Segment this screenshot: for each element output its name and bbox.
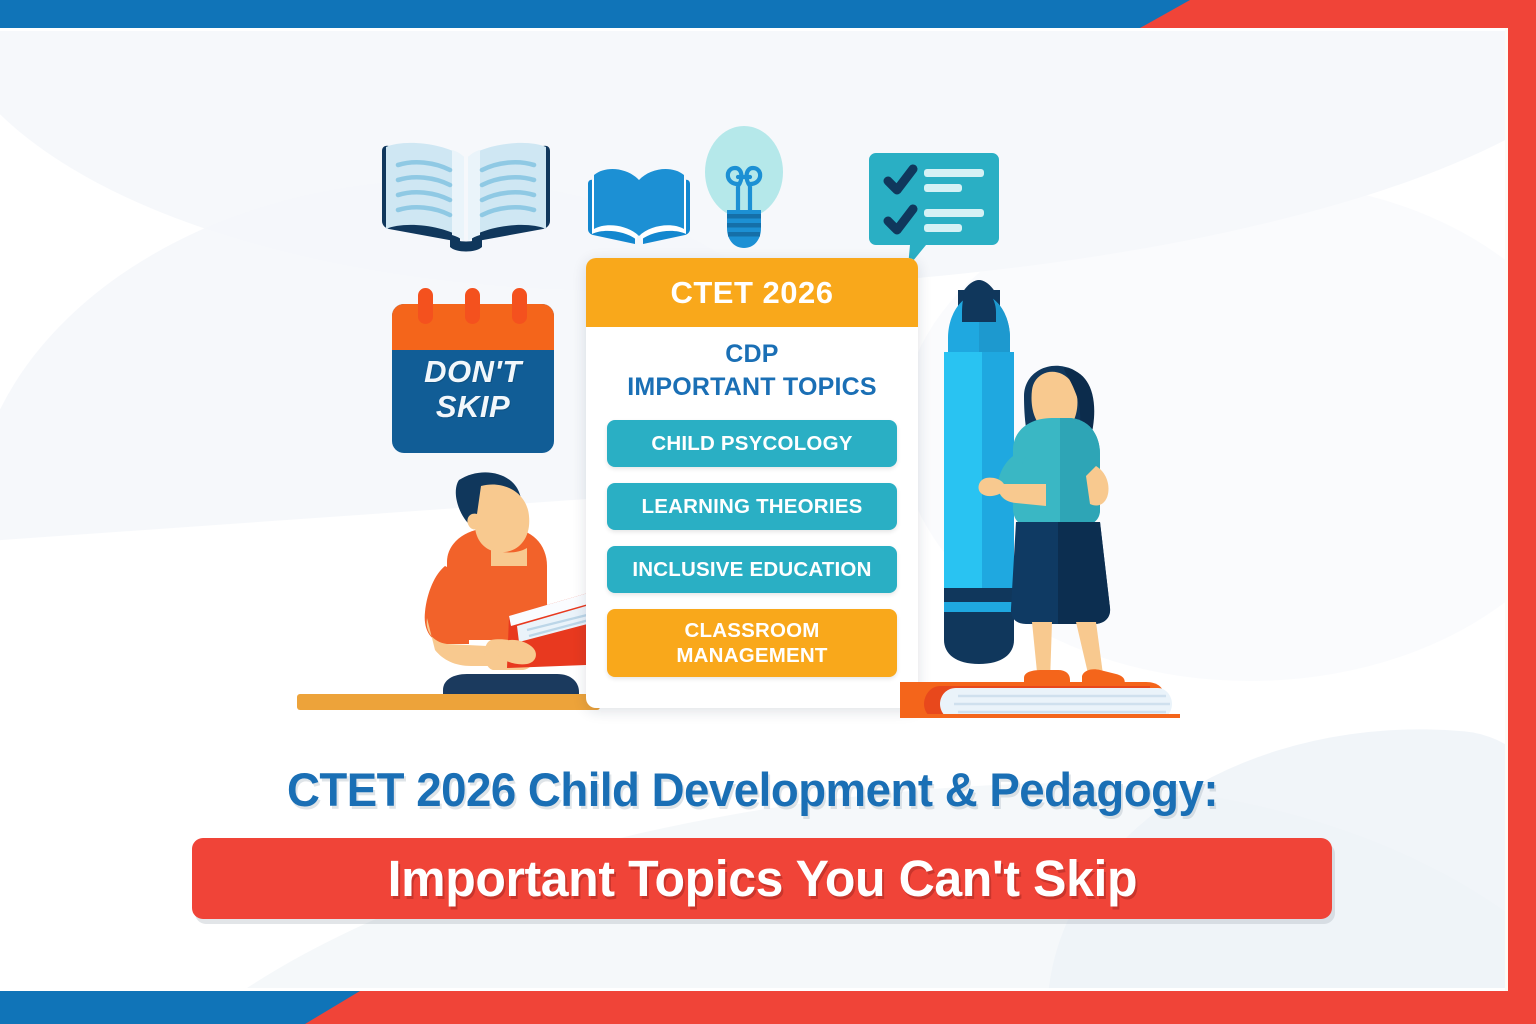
topics-card: CTET 2026 CDP IMPORTANT TOPICS CHILD PSY… xyxy=(586,258,918,708)
calendar-line-1: DON'T xyxy=(392,354,554,389)
boy-reading-illustration xyxy=(295,470,615,710)
open-book-small-icon xyxy=(584,160,694,250)
topic-chip[interactable]: CLASSROOM MANAGEMENT xyxy=(607,609,897,677)
card-header: CTET 2026 xyxy=(586,258,918,327)
lightbulb-icon xyxy=(705,124,783,250)
bottom-frame-red xyxy=(270,991,1536,1024)
right-frame-bar xyxy=(1508,28,1536,991)
headline-banner: Important Topics You Can't Skip xyxy=(192,838,1332,919)
headline-line-2: Important Topics You Can't Skip xyxy=(387,849,1136,908)
calendar-ring xyxy=(465,288,480,324)
floor-line xyxy=(297,694,600,710)
topic-chip-list: CHILD PSYCOLOGY LEARNING THEORIES INCLUS… xyxy=(607,420,897,677)
calendar-ring xyxy=(512,288,527,324)
top-frame-red xyxy=(1140,0,1536,28)
topic-chip[interactable]: INCLUSIVE EDUCATION xyxy=(607,546,897,593)
card-subtitle-line1: CDP xyxy=(586,338,918,371)
card-subtitle-line2: IMPORTANT TOPICS xyxy=(586,371,918,404)
headline-line-1: CTET 2026 Child Development & Pedagogy: xyxy=(23,762,1483,817)
open-book-icon xyxy=(376,139,556,254)
checklist-bubble-icon xyxy=(868,145,1000,267)
calendar-ring xyxy=(418,288,433,324)
girl-with-pencil-illustration xyxy=(900,278,1200,718)
topic-chip[interactable]: LEARNING THEORIES xyxy=(607,483,897,530)
bottom-frame-bar xyxy=(0,991,1536,1024)
topic-chip[interactable]: CHILD PSYCOLOGY xyxy=(607,420,897,467)
calendar-icon: DON'T SKIP xyxy=(392,288,554,453)
poster-canvas: DON'T SKIP CTET 2026 CDP IMPORTANT TOPIC… xyxy=(0,0,1536,1024)
calendar-text: DON'T SKIP xyxy=(392,354,554,424)
top-frame-bar xyxy=(0,0,1536,28)
calendar-line-2: SKIP xyxy=(392,389,554,424)
card-header-title: CTET 2026 xyxy=(670,275,833,311)
right-frame-gap xyxy=(1505,28,1508,991)
card-subtitle: CDP IMPORTANT TOPICS xyxy=(586,338,918,404)
bottom-frame-blue xyxy=(0,991,360,1024)
top-frame-blue xyxy=(0,0,1230,28)
